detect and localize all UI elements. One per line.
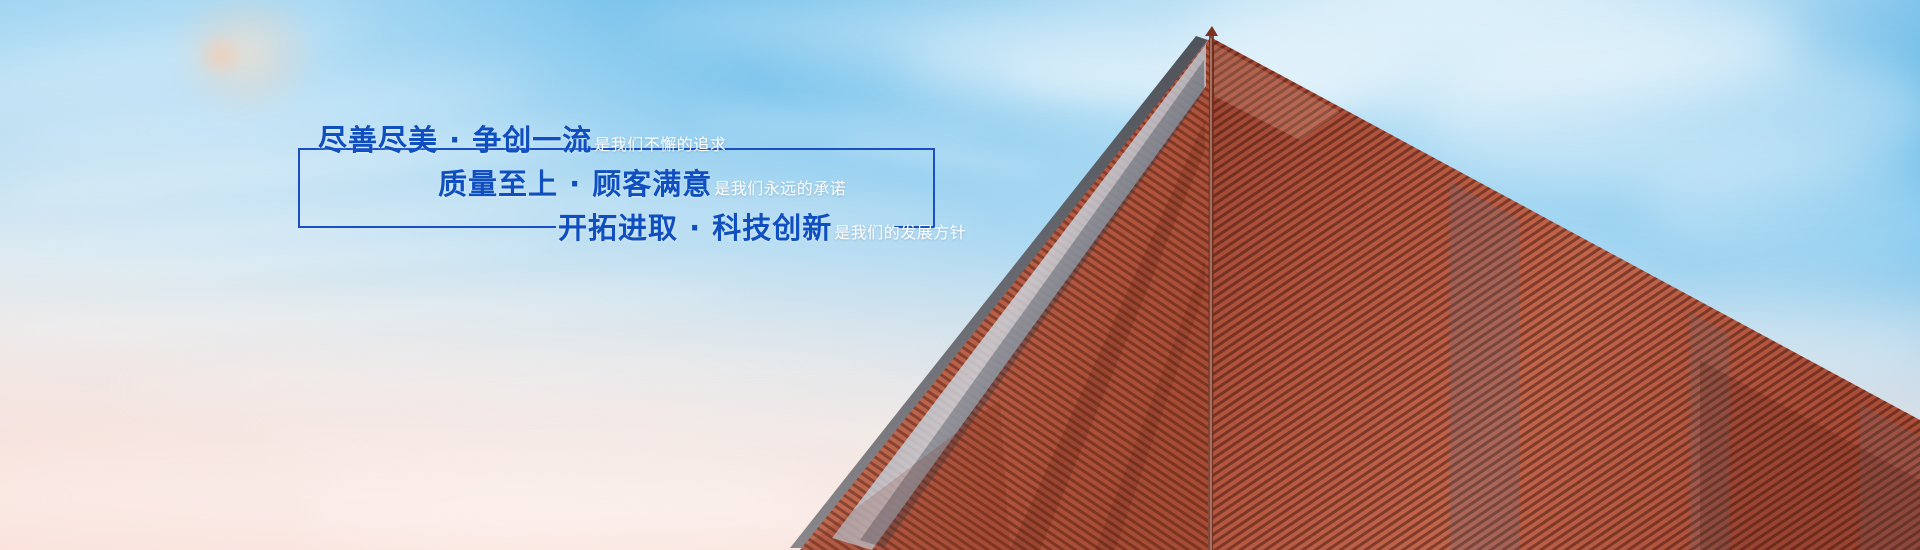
slogan-line-3: 开拓进取 · 科技创新 是我们的发展方针 xyxy=(300,214,940,243)
slogan-subtext-3: 是我们的发展方针 xyxy=(834,225,966,241)
slogan-line-1: 尽善尽美 · 争创一流 是我们不懈的追求 xyxy=(300,126,940,155)
slogan-lines: 尽善尽美 · 争创一流 是我们不懈的追求 质量至上 · 顾客满意 是我们永远的承… xyxy=(300,126,940,243)
slogan-headline-3: 开拓进取 · 科技创新 xyxy=(558,214,832,243)
banner-stage: 尽善尽美 · 争创一流 是我们不懈的追求 质量至上 · 顾客满意 是我们永远的承… xyxy=(0,0,1920,550)
slogan-subtext-2: 是我们永远的承诺 xyxy=(714,181,846,197)
slogan-line-2: 质量至上 · 顾客满意 是我们永远的承诺 xyxy=(300,170,940,199)
building-illustration xyxy=(0,0,1920,550)
slogan-subtext-1: 是我们不懈的追求 xyxy=(594,137,726,153)
slogan-headline-1: 尽善尽美 · 争创一流 xyxy=(318,126,592,155)
slogan-headline-2: 质量至上 · 顾客满意 xyxy=(438,170,712,199)
